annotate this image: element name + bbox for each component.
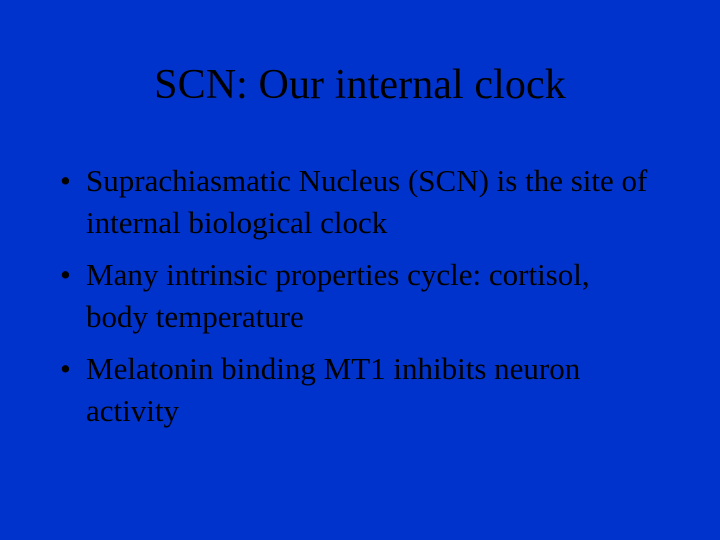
page-title: SCN: Our internal clock <box>154 62 566 108</box>
list-item: • Suprachiasmatic Nucleus (SCN) is the s… <box>56 160 656 244</box>
bullet-point-icon: • <box>60 254 80 296</box>
list-item-label: Suprachiasmatic Nucleus (SCN) is the sit… <box>86 160 656 244</box>
list-item: • Many intrinsic properties cycle: corti… <box>56 254 656 338</box>
list-item: • Melatonin binding MT1 inhibits neuron … <box>56 348 656 432</box>
bullet-point-icon: • <box>60 348 80 390</box>
bullet-point-icon: • <box>60 160 80 202</box>
presentation-slide: SCN: Our internal clock • Suprachiasmati… <box>0 0 720 540</box>
list-item-label: Many intrinsic properties cycle: cortiso… <box>86 254 656 338</box>
bullet-list: • Suprachiasmatic Nucleus (SCN) is the s… <box>56 160 656 432</box>
list-item-label: Melatonin binding MT1 inhibits neuron ac… <box>86 348 656 432</box>
slide-body-container: • Suprachiasmatic Nucleus (SCN) is the s… <box>56 160 656 432</box>
slide-title-container: SCN: Our internal clock <box>0 62 720 108</box>
